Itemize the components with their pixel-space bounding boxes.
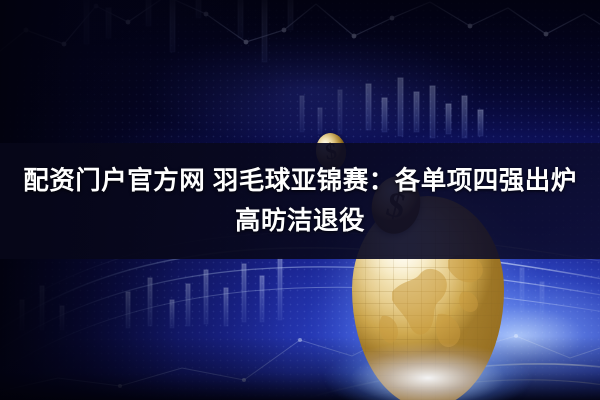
headline-block: 配资门户官方网 羽毛球亚锦赛：各单项四强出炉 高昉洁退役 — [0, 143, 600, 259]
globe-base-glow — [294, 332, 562, 400]
news-banner-image: $ $ 配资门户官方网 羽毛球亚锦赛：各单项四强出炉 高昉洁退役 — [0, 0, 600, 400]
headline-line-2: 高昉洁退役 — [235, 202, 365, 240]
headline-line-1: 配资门户官方网 羽毛球亚锦赛：各单项四强出炉 — [23, 162, 577, 200]
